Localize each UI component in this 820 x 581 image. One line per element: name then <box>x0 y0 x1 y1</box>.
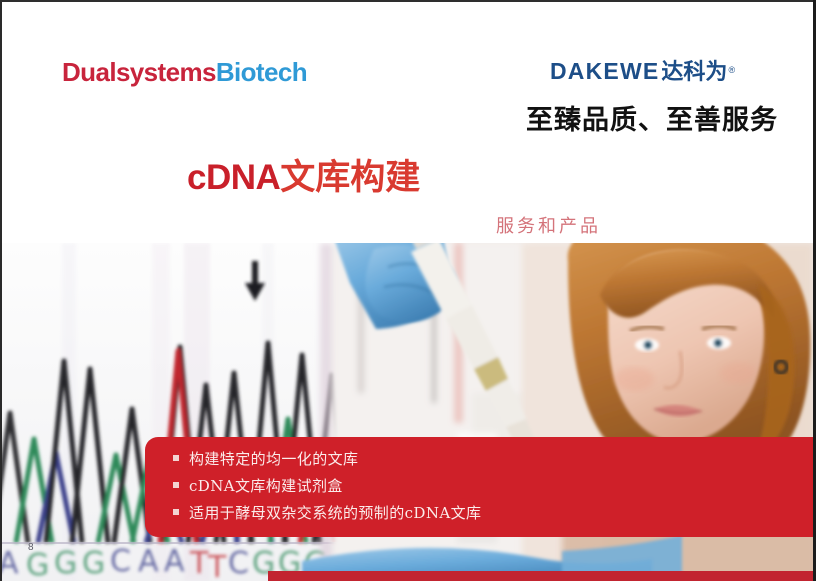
dakewe-logo-cjk: 达科为 <box>661 59 727 84</box>
svg-text:A: A <box>138 544 159 579</box>
red-callout-box: 构建特定的均一化的文库 cDNA文库构建试剂盒 适用于酵母双杂交系统的预制的cD… <box>145 437 813 537</box>
square-bullet-icon <box>173 482 179 488</box>
list-item-label: 构建特定的均一化的文库 <box>189 449 358 471</box>
dakewe-logo: DAKEWE达科为® <box>550 54 735 86</box>
square-bullet-icon <box>173 509 179 515</box>
svg-text:A: A <box>2 546 19 581</box>
list-item: 构建特定的均一化的文库 <box>173 449 813 471</box>
dakewe-logo-latin: DAKEWE <box>550 58 659 84</box>
frame-edge-top <box>0 0 816 2</box>
logo-text-dualsystems: Dualsystems <box>62 57 216 87</box>
svg-text:G: G <box>82 546 105 581</box>
list-item-label: cDNA文库构建试剂盒 <box>189 476 343 498</box>
svg-text:T: T <box>207 550 227 581</box>
svg-text:C: C <box>228 546 249 581</box>
page-title-cjk: 文库构建 <box>280 157 420 198</box>
bottom-accent-bar <box>268 571 813 581</box>
logo-text-biotech: Biotech <box>216 57 307 87</box>
callout-list: 构建特定的均一化的文库 cDNA文库构建试剂盒 适用于酵母双杂交系统的预制的cD… <box>173 449 813 524</box>
list-item: cDNA文库构建试剂盒 <box>173 476 813 498</box>
dualsystems-biotech-logo: DualsystemsBiotech <box>62 57 307 88</box>
square-bullet-icon <box>173 455 179 461</box>
list-item: 适用于酵母双杂交系统的预制的cDNA文库 <box>173 503 813 525</box>
registered-trademark-icon: ® <box>728 65 735 75</box>
presentation-slide: A G G G C A A T T C G G G <box>0 0 820 581</box>
list-item-label: 适用于酵母双杂交系统的预制的cDNA文库 <box>189 503 481 525</box>
company-tagline: 至臻品质、至善服务 <box>526 98 778 137</box>
page-number: 8 <box>28 542 34 553</box>
svg-text:G: G <box>54 546 77 581</box>
frame-edge-left <box>0 0 2 581</box>
slide-header: DualsystemsBiotech DAKEWE达科为® 至臻品质、至善服务 … <box>2 2 813 243</box>
page-title-latin: cDNA <box>187 158 280 197</box>
frame-gutter-right <box>816 0 820 581</box>
page-title: cDNA文库构建 <box>187 160 420 195</box>
svg-text:C: C <box>110 544 131 579</box>
page-subtitle: 服务和产品 <box>496 212 601 238</box>
svg-text:T: T <box>189 546 209 581</box>
svg-text:A: A <box>164 544 185 579</box>
